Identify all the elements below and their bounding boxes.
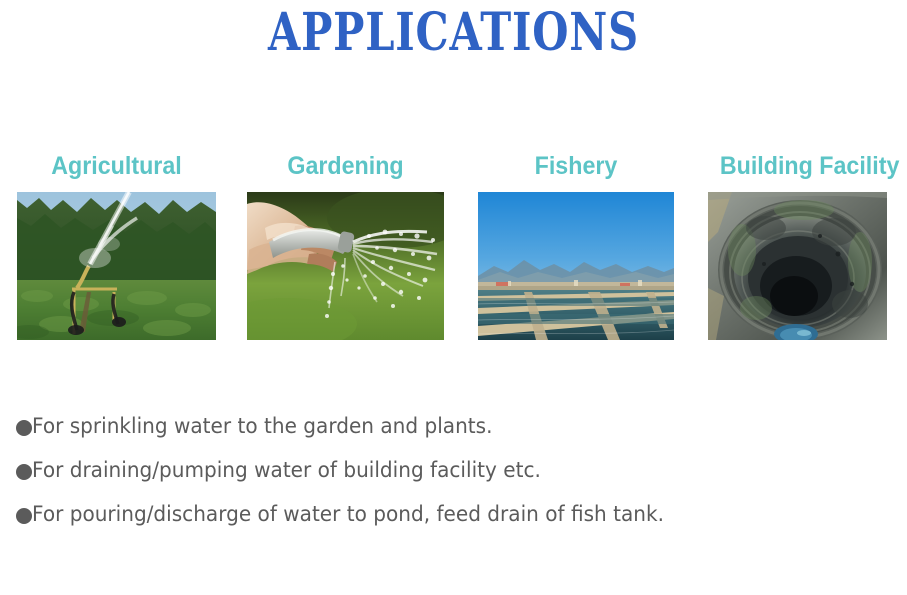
applications-bullet-list: For sprinkling water to the garden and p…: [16, 412, 876, 544]
bullet-text: For pouring/discharge of water to pond, …: [32, 500, 664, 528]
card-label-gardening: Gardening: [254, 150, 437, 182]
list-item: For draining/pumping water of building f…: [16, 456, 876, 500]
agricultural-irrigation-sprinkler-photo: [17, 192, 216, 340]
bullet-dot-icon: [16, 508, 32, 524]
building-facility-well-shaft-photo: [708, 192, 887, 340]
gardening-hose-watering-photo: [247, 192, 444, 340]
list-item: For pouring/discharge of water to pond, …: [16, 500, 876, 544]
bullet-text: For draining/pumping water of building f…: [32, 456, 541, 484]
bullet-text: For sprinkling water to the garden and p…: [32, 412, 492, 440]
application-card-agricultural[interactable]: Agricultural: [17, 150, 216, 340]
application-cards-row: Agricultural: [0, 150, 907, 350]
application-card-building-facility[interactable]: Building Facility: [708, 150, 887, 340]
card-label-fishery: Fishery: [485, 150, 667, 182]
card-label-agricultural: Agricultural: [24, 150, 209, 182]
bullet-dot-icon: [16, 420, 32, 436]
application-card-fishery[interactable]: Fishery: [478, 150, 674, 340]
page-title: APPLICATIONS: [91, 2, 817, 64]
list-item: For sprinkling water to the garden and p…: [16, 412, 876, 456]
application-card-gardening[interactable]: Gardening: [247, 150, 444, 340]
bullet-dot-icon: [16, 464, 32, 480]
fishery-aquaculture-ponds-photo: [478, 192, 674, 340]
card-label-building-facility: Building Facility: [720, 150, 886, 182]
